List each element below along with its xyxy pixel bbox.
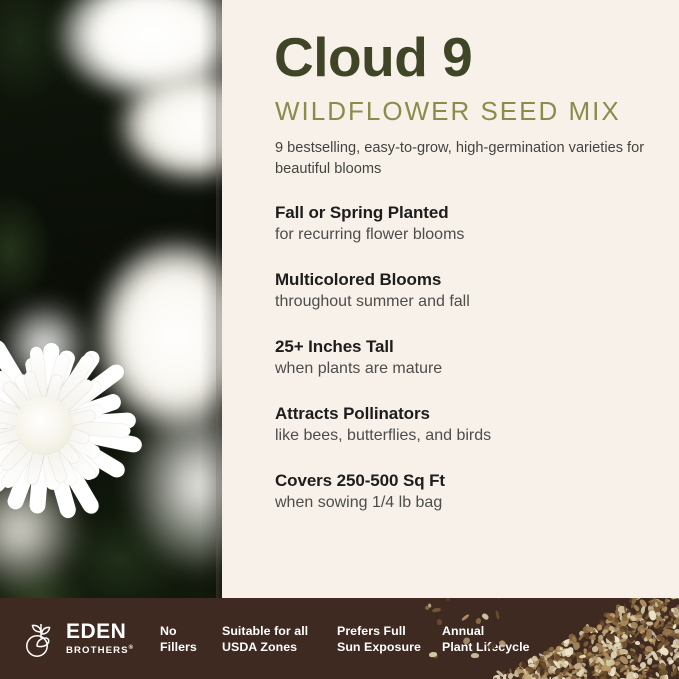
- brand-wordmark: EDEN BROTHERS®: [66, 621, 134, 656]
- seed: [431, 607, 441, 613]
- seed: [482, 612, 490, 620]
- feature-title: Attracts Pollinators: [275, 403, 665, 424]
- product-photo: [0, 0, 222, 609]
- seed: [648, 668, 652, 672]
- seed: [543, 651, 550, 655]
- seed: [578, 654, 585, 658]
- feature-subtitle: like bees, butterflies, and birds: [275, 426, 665, 447]
- seed: [646, 629, 652, 639]
- feature-title: 25+ Inches Tall: [275, 336, 665, 357]
- feature-title: Fall or Spring Planted: [275, 202, 665, 223]
- feature-item: Multicolored Blooms throughout summer an…: [275, 269, 665, 313]
- sprout-seed-icon: [22, 620, 60, 658]
- flower-center: [15, 397, 73, 455]
- footer-benefit-line1: Prefers Full: [337, 623, 421, 639]
- footer-benefit: Prefers Full Sun Exposure: [337, 623, 421, 656]
- footer-benefit: No Fillers: [160, 623, 197, 656]
- seed: [664, 598, 667, 606]
- product-subtitle: WILDFLOWER SEED MIX: [275, 98, 621, 124]
- feature-title: Multicolored Blooms: [275, 269, 665, 290]
- seed: [495, 611, 500, 620]
- footer-benefit-line2: USDA Zones: [222, 639, 308, 655]
- brand-brothers-text: BROTHERS: [66, 645, 129, 656]
- footer-benefit-line2: Fillers: [160, 639, 197, 655]
- seed-pile-decoration: [489, 598, 679, 679]
- feature-item: 25+ Inches Tall when plants are mature: [275, 336, 665, 380]
- seed: [461, 614, 470, 622]
- seed: [608, 616, 613, 621]
- seed: [615, 661, 619, 666]
- footer-benefit: Suitable for all USDA Zones: [222, 623, 308, 656]
- seed: [499, 639, 508, 648]
- brand-name-secondary: BROTHERS®: [66, 645, 134, 656]
- feature-subtitle: when plants are mature: [275, 359, 665, 380]
- footer-benefit-line2: Sun Exposure: [337, 639, 421, 655]
- seed: [424, 605, 429, 610]
- seed: [487, 642, 497, 651]
- product-infographic-card: Cloud 9 WILDFLOWER SEED MIX 9 bestsellin…: [0, 0, 679, 679]
- seed: [475, 617, 481, 624]
- content-panel: Cloud 9 WILDFLOWER SEED MIX 9 bestsellin…: [222, 0, 679, 609]
- seed: [471, 653, 479, 658]
- feature-subtitle: for recurring flower blooms: [275, 225, 665, 246]
- feature-subtitle: when sowing 1/4 lb bag: [275, 493, 665, 514]
- seed: [627, 655, 631, 659]
- feature-item: Fall or Spring Planted for recurring flo…: [275, 202, 665, 246]
- brand-logo[interactable]: EDEN BROTHERS®: [22, 620, 142, 660]
- feature-subtitle: throughout summer and fall: [275, 292, 665, 313]
- seed: [659, 675, 667, 679]
- product-intro-text: 9 bestselling, easy-to-grow, high-germin…: [275, 138, 645, 179]
- page-title: Cloud 9: [274, 30, 472, 85]
- seed: [587, 672, 590, 675]
- footer-benefit-line1: No: [160, 623, 197, 639]
- feature-item: Covers 250-500 Sq Ft when sowing 1/4 lb …: [275, 470, 665, 514]
- registered-mark: ®: [129, 645, 135, 651]
- footer-benefit-line1: Suitable for all: [222, 623, 308, 639]
- photo-foreground-flower: [0, 286, 184, 566]
- feature-item: Attracts Pollinators like bees, butterfl…: [275, 403, 665, 447]
- footer-bar: EDEN BROTHERS® No Fillers Suitable for a…: [0, 598, 679, 679]
- feature-title: Covers 250-500 Sq Ft: [275, 470, 665, 491]
- brand-name-primary: EDEN: [66, 621, 134, 642]
